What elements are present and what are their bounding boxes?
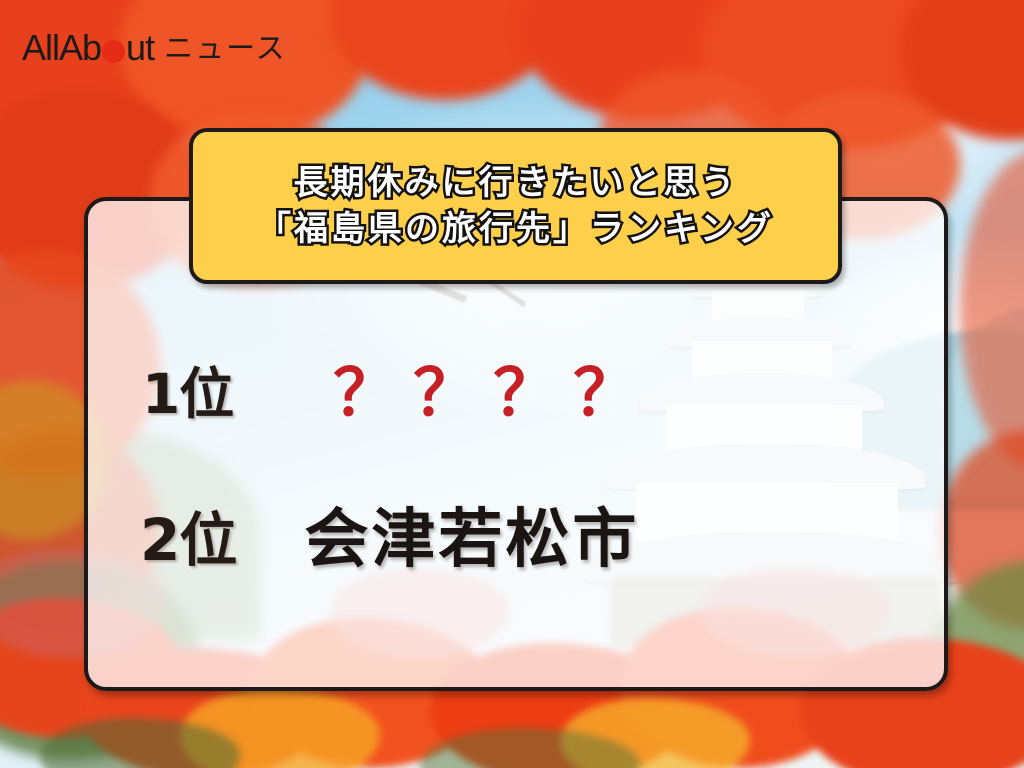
logo-suffix-japanese: ニュース [164, 34, 287, 63]
rank-2-name: 会津若松市 [304, 508, 639, 572]
slide-canvas: AllAb ut ニュース 長期休みに行きたいと思う 「福島県の旅行先」ランキン… [0, 0, 1024, 768]
ranking-row-2: 2位 会津若松市 [140, 508, 639, 572]
logo-text-left: AllAb [22, 30, 101, 66]
banner-line-1: 長期休みに行きたいと思う [294, 162, 738, 205]
rank-1-name-hidden: ？？？？ [333, 362, 653, 426]
rank-2-position: 2位 [140, 511, 236, 569]
logo-red-circle-icon [102, 40, 125, 63]
rank-1-position: 1位 [142, 367, 233, 422]
ranking-row-1: 1位 ？？？？ [142, 362, 653, 426]
logo-wordmark: AllAb ut [22, 30, 154, 66]
site-logo[interactable]: AllAb ut ニュース [22, 30, 287, 66]
title-banner: 長期休みに行きたいと思う 「福島県の旅行先」ランキング [189, 128, 842, 284]
logo-text-right: ut [126, 30, 154, 66]
banner-line-2: 「福島県の旅行先」ランキング [257, 208, 774, 251]
